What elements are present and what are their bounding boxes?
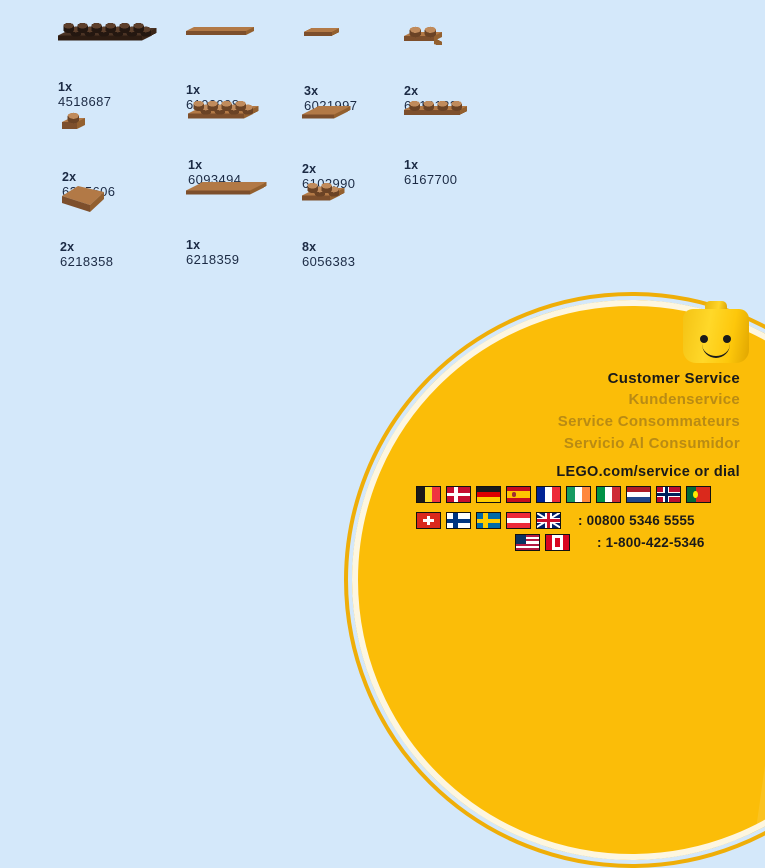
part-image [60,182,180,240]
customer-service-text-block: Customer Service Kundenservice Service C… [380,368,740,485]
flag-france-icon [536,486,561,503]
customer-service-phone: : 1-800-422-5346 [597,535,705,550]
part-graphic [404,100,467,119]
customer-service-title-de: Kundenservice [380,389,740,411]
part-graphic [62,112,85,133]
part-item: 1x4518687 [58,22,178,109]
part-item: 8x6056383 [302,182,422,269]
flag-sweden-icon [476,512,501,529]
part-image [62,112,182,170]
flag-switzerland-icon [416,512,441,529]
part-number: 4518687 [58,95,178,110]
flag-germany-icon [476,486,501,503]
part-quantity: 1x [404,158,524,173]
part-label: 1x6218359 [186,238,306,267]
flag-united-states-icon [515,534,540,551]
part-label: 2x6218358 [60,240,180,269]
customer-service-title-en: Customer Service [380,368,740,389]
disc-sheen [704,600,765,860]
part-number: 6056383 [302,255,422,270]
part-graphic [404,26,442,45]
part-item: 2x6218358 [60,182,180,269]
flag-finland-icon [446,512,471,529]
flag-belgium-icon [416,486,441,503]
part-item: 1x6102998 [186,25,306,112]
part-graphic [302,104,351,123]
flag-portugal-icon [686,486,711,503]
part-quantity: 2x [404,84,524,99]
part-graphic [186,180,267,199]
customer-service-phone: : 00800 5346 5555 [578,513,695,528]
flag-italy-icon [596,486,621,503]
part-quantity: 1x [186,83,306,98]
part-item: 1x6218359 [186,180,306,267]
part-label: 8x6056383 [302,240,422,269]
part-number: 6218358 [60,255,180,270]
part-image [188,100,308,158]
part-image [404,26,524,84]
flag-austria-icon [506,512,531,529]
part-image [58,22,178,80]
part-label: 1x4518687 [58,80,178,109]
part-number: 6218359 [186,253,306,268]
lego-minifigure-head-icon [683,301,749,363]
part-graphic [60,182,112,216]
flag-netherlands-icon [626,486,651,503]
part-item: 1x6167700 [404,100,524,187]
part-graphic [186,25,254,39]
customer-service-title-es: Servicio Al Consumidor [380,433,740,455]
part-number: 6167700 [404,173,524,188]
part-quantity: 2x [60,240,180,255]
flag-spain-icon [506,486,531,503]
flag-norway-icon [656,486,681,503]
flag-row-north-america: : 1-800-422-5346 [515,534,705,551]
flag-canada-icon [545,534,570,551]
part-graphic [188,100,259,123]
part-quantity: 1x [186,238,306,253]
flag-row-europe-2: : 00800 5346 5555 [416,512,695,529]
part-image [186,180,306,238]
flag-united-kingdom-icon [536,512,561,529]
part-quantity: 1x [58,80,178,95]
head-body [683,309,749,363]
flag-ireland-icon [566,486,591,503]
customer-service-title-fr: Service Consommateurs [380,411,740,433]
part-graphic [304,26,339,40]
part-graphic [302,182,345,205]
customer-service-url[interactable]: LEGO.com/service or dial [380,455,740,485]
smile-icon [702,342,730,358]
flag-denmark-icon [446,486,471,503]
part-image [186,25,306,83]
part-graphic [58,22,157,45]
flag-row-europe-1 [416,486,711,503]
parts-inventory: 1x45186872x62156062x62183581x61029981x60… [0,0,765,300]
part-image [302,182,422,240]
part-quantity: 1x [188,158,308,173]
part-label: 1x6167700 [404,158,524,187]
part-image [404,100,524,158]
part-item: 1x6093494 [188,100,308,187]
part-quantity: 8x [302,240,422,255]
